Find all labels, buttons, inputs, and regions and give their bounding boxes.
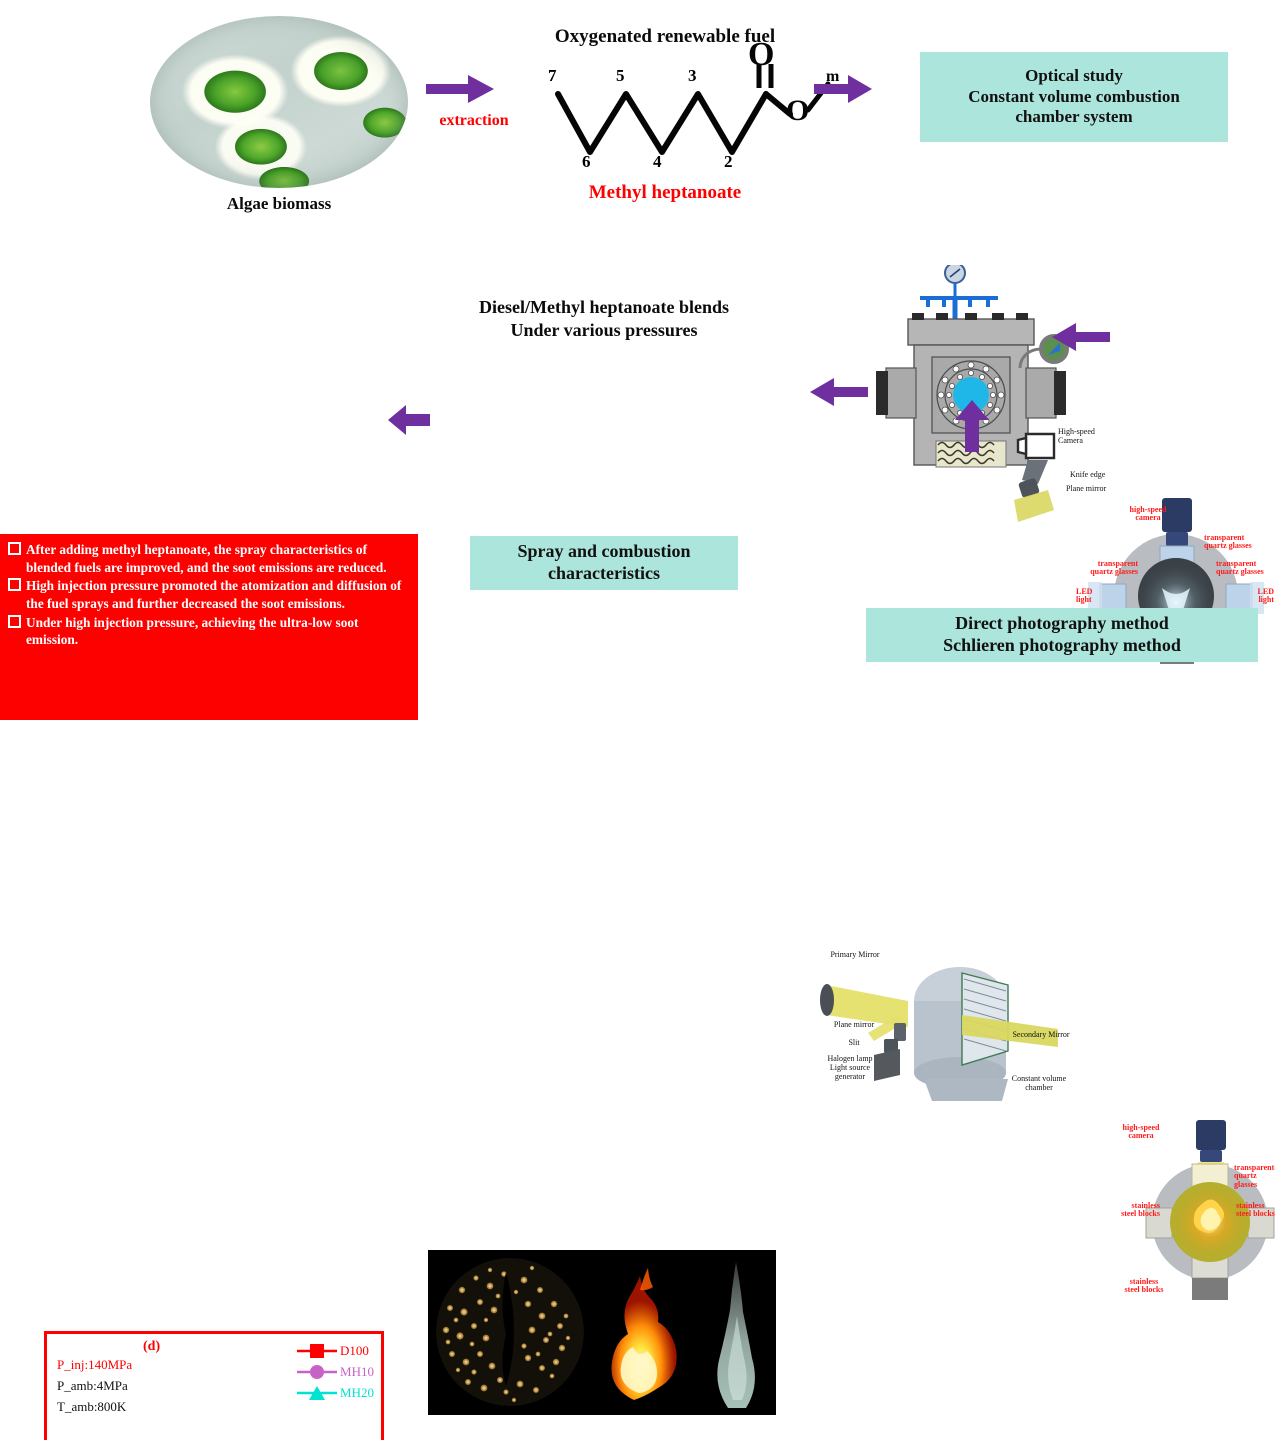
algae-biomass-figure: Algae biomass bbox=[150, 16, 408, 214]
stainless-steel-blocks-left-label: stainless steel blocks bbox=[1106, 1202, 1160, 1219]
chart-plot-area bbox=[47, 1334, 381, 1440]
stainless-steel-blocks-bottom-label: stainless steel blocks bbox=[1116, 1278, 1172, 1295]
high-speed-camera-body bbox=[1196, 1120, 1226, 1150]
carbon-number-6: 6 bbox=[582, 152, 591, 172]
spray-combustion-box: Spray and combustion characteristics bbox=[470, 536, 738, 590]
knife-edge-label: Knife edge bbox=[1070, 470, 1105, 479]
carbon-number-3: 3 bbox=[688, 66, 697, 86]
primary-mirror-label: Primary Mirror bbox=[818, 951, 892, 960]
arrow-extraction bbox=[424, 72, 496, 106]
conclusions-list: After adding methyl heptanoate, the spra… bbox=[8, 541, 408, 649]
photography-method-line-2: Schlieren photography method bbox=[943, 635, 1181, 657]
led-light-left-label: LED light bbox=[1076, 588, 1108, 605]
halogen-lamp-label: Halogen lamp Light source generator bbox=[812, 1055, 888, 1081]
spray-combustion-photographs bbox=[428, 1250, 776, 1415]
arrow-bench-to-rig bbox=[952, 398, 992, 454]
constant-volume-chamber-label: Constant volume chamber bbox=[1000, 1075, 1078, 1093]
spray-combustion-line-1: Spray and combustion bbox=[517, 541, 690, 563]
conclusion-text: Under high injection pressure, achieving… bbox=[26, 614, 408, 649]
carbon-number-4: 4 bbox=[653, 152, 662, 172]
carbon-number-5: 5 bbox=[616, 66, 625, 86]
optical-study-box: Optical study Constant volume combustion… bbox=[920, 52, 1228, 142]
ester-oxygen-label: O bbox=[786, 94, 809, 128]
led-light-right-label: LED light bbox=[1242, 588, 1274, 605]
blends-title-line-1: Diesel/Methyl heptanoate blends bbox=[418, 296, 790, 319]
quartz-glasses-right-label: transparent quartz glasses bbox=[1216, 560, 1276, 577]
arrow-to-optical-study bbox=[812, 72, 874, 106]
conclusion-text: After adding methyl heptanoate, the spra… bbox=[26, 541, 408, 576]
high-speed-camera-bench-label: High-speed Camera bbox=[1058, 428, 1095, 446]
conclusion-item: High injection pressure promoted the ato… bbox=[8, 577, 408, 612]
high-speed-camera-label: high-speed camera bbox=[1116, 1124, 1166, 1141]
blends-title-line-2: Under various pressures bbox=[418, 319, 790, 342]
optical-rig-direct-photography-cross-section: high-speed camera transparent quartz gla… bbox=[1140, 1118, 1280, 1308]
arrow-spray-to-chart bbox=[386, 403, 432, 437]
square-bullet-icon bbox=[8, 577, 26, 595]
quartz-glasses-top-label: transparent quartz glasses bbox=[1204, 534, 1266, 551]
quartz-glasses-label: transparent quartz glasses bbox=[1234, 1164, 1280, 1189]
plane-mirror-right-label: Plane mirror bbox=[1066, 484, 1106, 493]
oxygenated-fuel-heading: Oxygenated renewable fuel bbox=[500, 26, 830, 48]
optical-study-line-3: chamber system bbox=[1015, 107, 1132, 128]
carbon-number-7: 7 bbox=[548, 66, 557, 86]
schlieren-optical-bench: Primary Mirror Plane mirror Slit Halogen… bbox=[812, 923, 1062, 1123]
methyl-heptanoate-structure: O O m 7 5 3 6 4 2 bbox=[540, 52, 840, 172]
square-bullet-icon bbox=[8, 541, 26, 559]
quartz-glasses-left-label: transparent quartz glasses bbox=[1076, 560, 1138, 577]
plane-mirror-left-label: Plane mirror bbox=[820, 1021, 888, 1030]
schlieren-camera-assembly: High-speed Camera Knife edge Plane mirro… bbox=[1014, 418, 1140, 548]
extraction-label: extraction bbox=[424, 112, 524, 130]
conclusion-item: Under high injection pressure, achieving… bbox=[8, 614, 408, 649]
algae-biomass-caption: Algae biomass bbox=[150, 194, 408, 214]
blends-title: Diesel/Methyl heptanoate blends Under va… bbox=[418, 296, 790, 341]
conclusion-item: After adding methyl heptanoate, the spra… bbox=[8, 541, 408, 576]
arrow-rig-to-chamber bbox=[1050, 320, 1112, 354]
secondary-mirror-label: Secondary Mirror bbox=[1002, 1031, 1080, 1040]
spray-combustion-line-2: characteristics bbox=[548, 563, 660, 585]
algae-micrograph bbox=[150, 16, 408, 188]
carbon-number-2: 2 bbox=[724, 152, 733, 172]
conclusions-panel: After adding methyl heptanoate, the spra… bbox=[0, 534, 418, 720]
square-bullet-icon bbox=[8, 614, 26, 632]
photography-method-box: Direct photography method Schlieren phot… bbox=[866, 608, 1258, 662]
arrow-chamber-to-spray bbox=[808, 375, 870, 409]
fuel-name-label: Methyl heptanoate bbox=[520, 182, 810, 204]
carbonyl-oxygen-label: O bbox=[748, 36, 774, 74]
slit-label: Slit bbox=[834, 1039, 874, 1048]
optical-study-line-2: Constant volume combustion bbox=[968, 87, 1180, 108]
stainless-steel-blocks-right-label: stainless steel blocks bbox=[1236, 1202, 1280, 1219]
kl-soot-chart: (d) P_inj:140MPa P_amb:4MPa T_amb:800K D… bbox=[44, 1331, 384, 1440]
conclusion-text: High injection pressure promoted the ato… bbox=[26, 577, 408, 612]
optical-study-line-1: Optical study bbox=[1025, 66, 1123, 87]
photography-method-line-1: Direct photography method bbox=[955, 613, 1169, 635]
